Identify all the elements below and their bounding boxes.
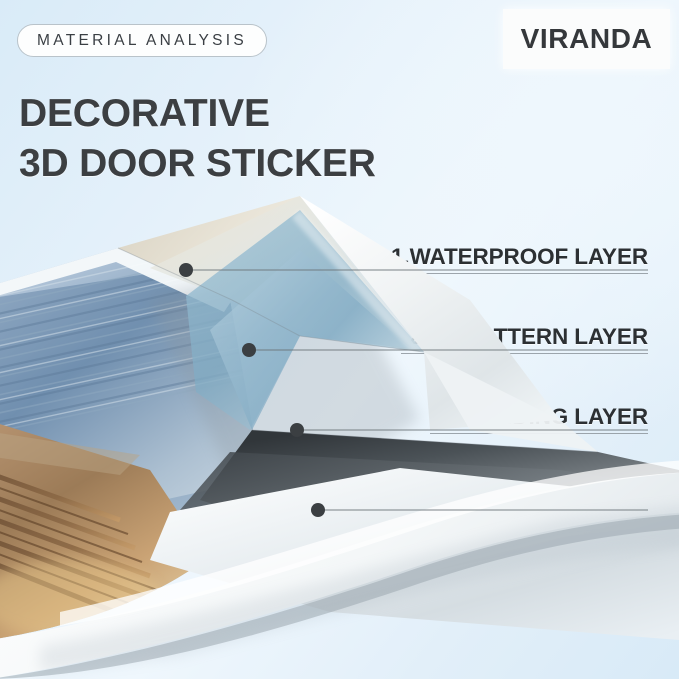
callout-leader-lines	[0, 0, 679, 679]
callout-dot-backing	[311, 503, 325, 517]
poster-canvas: MATERIAL ANALYSIS DECORATIVE 3D DOOR STI…	[0, 0, 679, 679]
callout-dot-hd-pattern	[242, 343, 256, 357]
callout-dot-bonding	[290, 423, 304, 437]
callout-dot-waterproof	[179, 263, 193, 277]
